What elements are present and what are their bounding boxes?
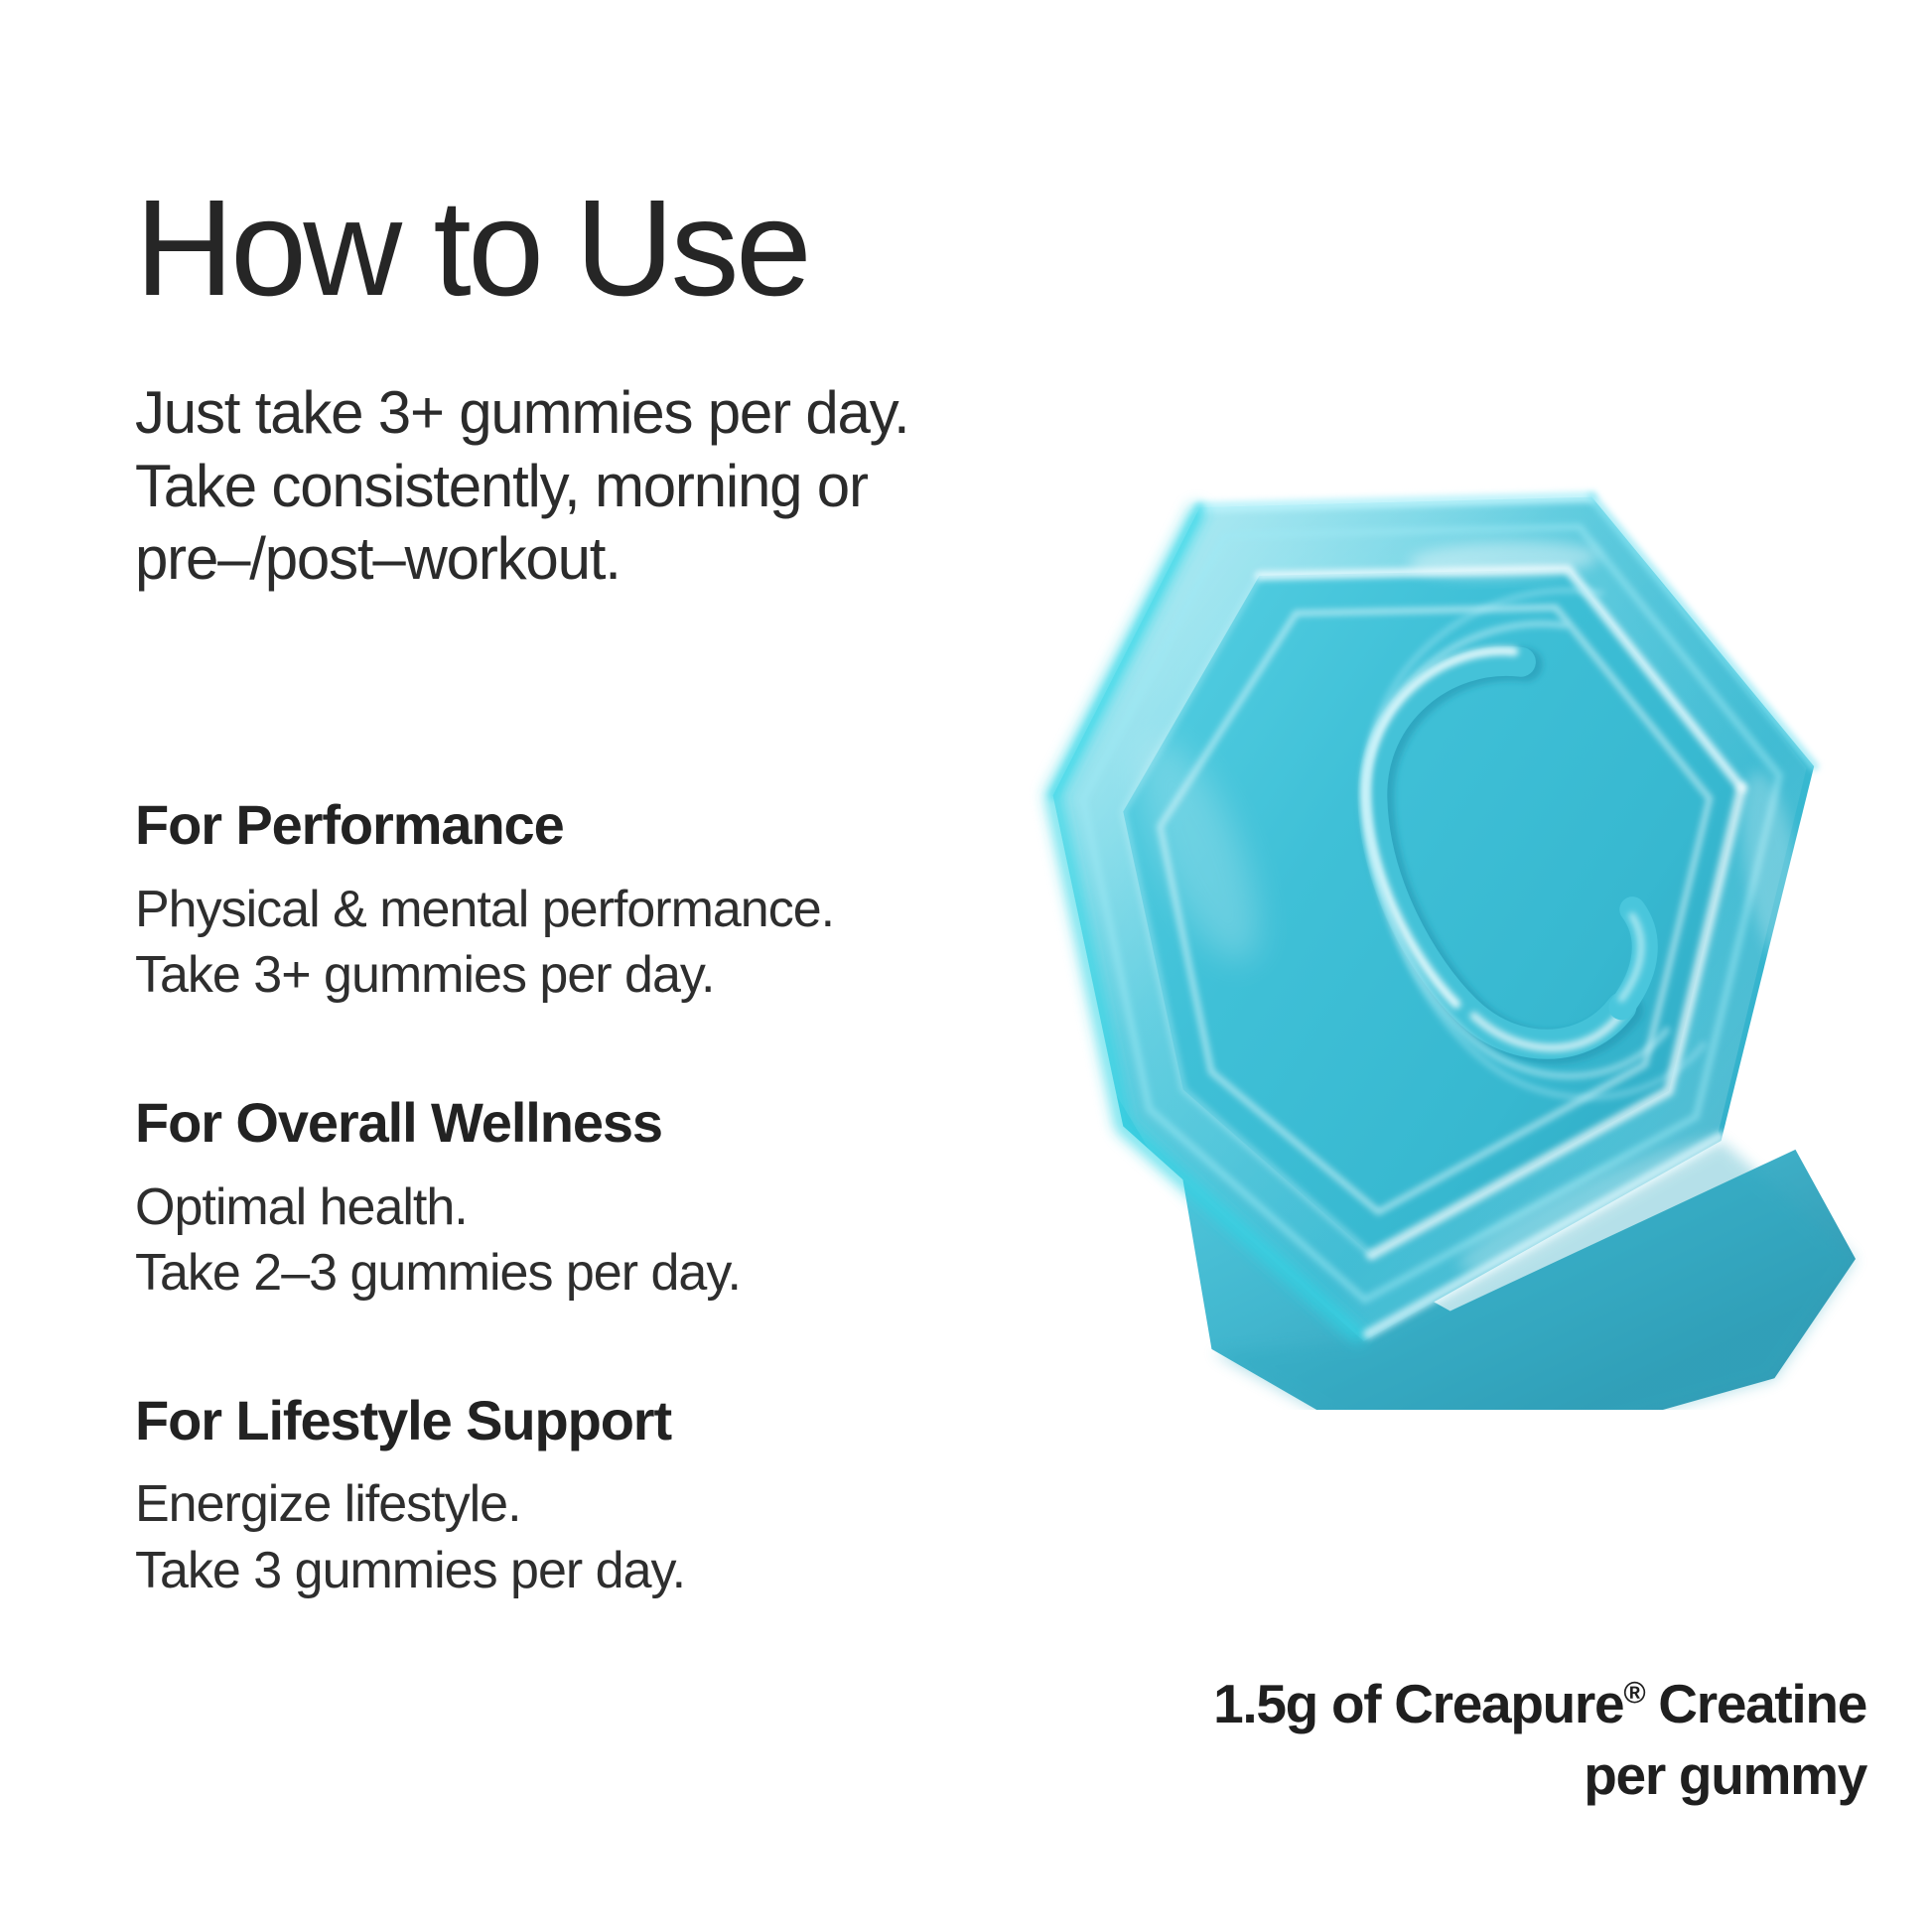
caption-line-1: 1.5g of Creapure® Creatine	[774, 1669, 1866, 1740]
gummy-illustration	[953, 397, 1932, 1410]
product-info-card: How to Use Just take 3+ gummies per day.…	[0, 0, 1932, 1932]
product-caption: 1.5g of Creapure® Creatine per gummy	[774, 1669, 1866, 1811]
page-title: How to Use	[135, 179, 1128, 319]
gummy-product-image	[953, 397, 1932, 1410]
caption-ingredient-text: Creatine	[1644, 1673, 1866, 1734]
caption-line-2: per gummy	[774, 1740, 1866, 1812]
section-lifestyle-support: For Lifestyle Support Energize lifestyle…	[135, 1390, 1128, 1604]
caption-dose-text: 1.5g of Creapure	[1213, 1673, 1623, 1734]
registered-trademark-icon: ®	[1623, 1678, 1644, 1711]
section-body: Energize lifestyle. Take 3 gummies per d…	[135, 1471, 1128, 1603]
section-body-line-1: Energize lifestyle.	[135, 1471, 1128, 1538]
section-body-line-2: Take 3 gummies per day.	[135, 1538, 1128, 1604]
